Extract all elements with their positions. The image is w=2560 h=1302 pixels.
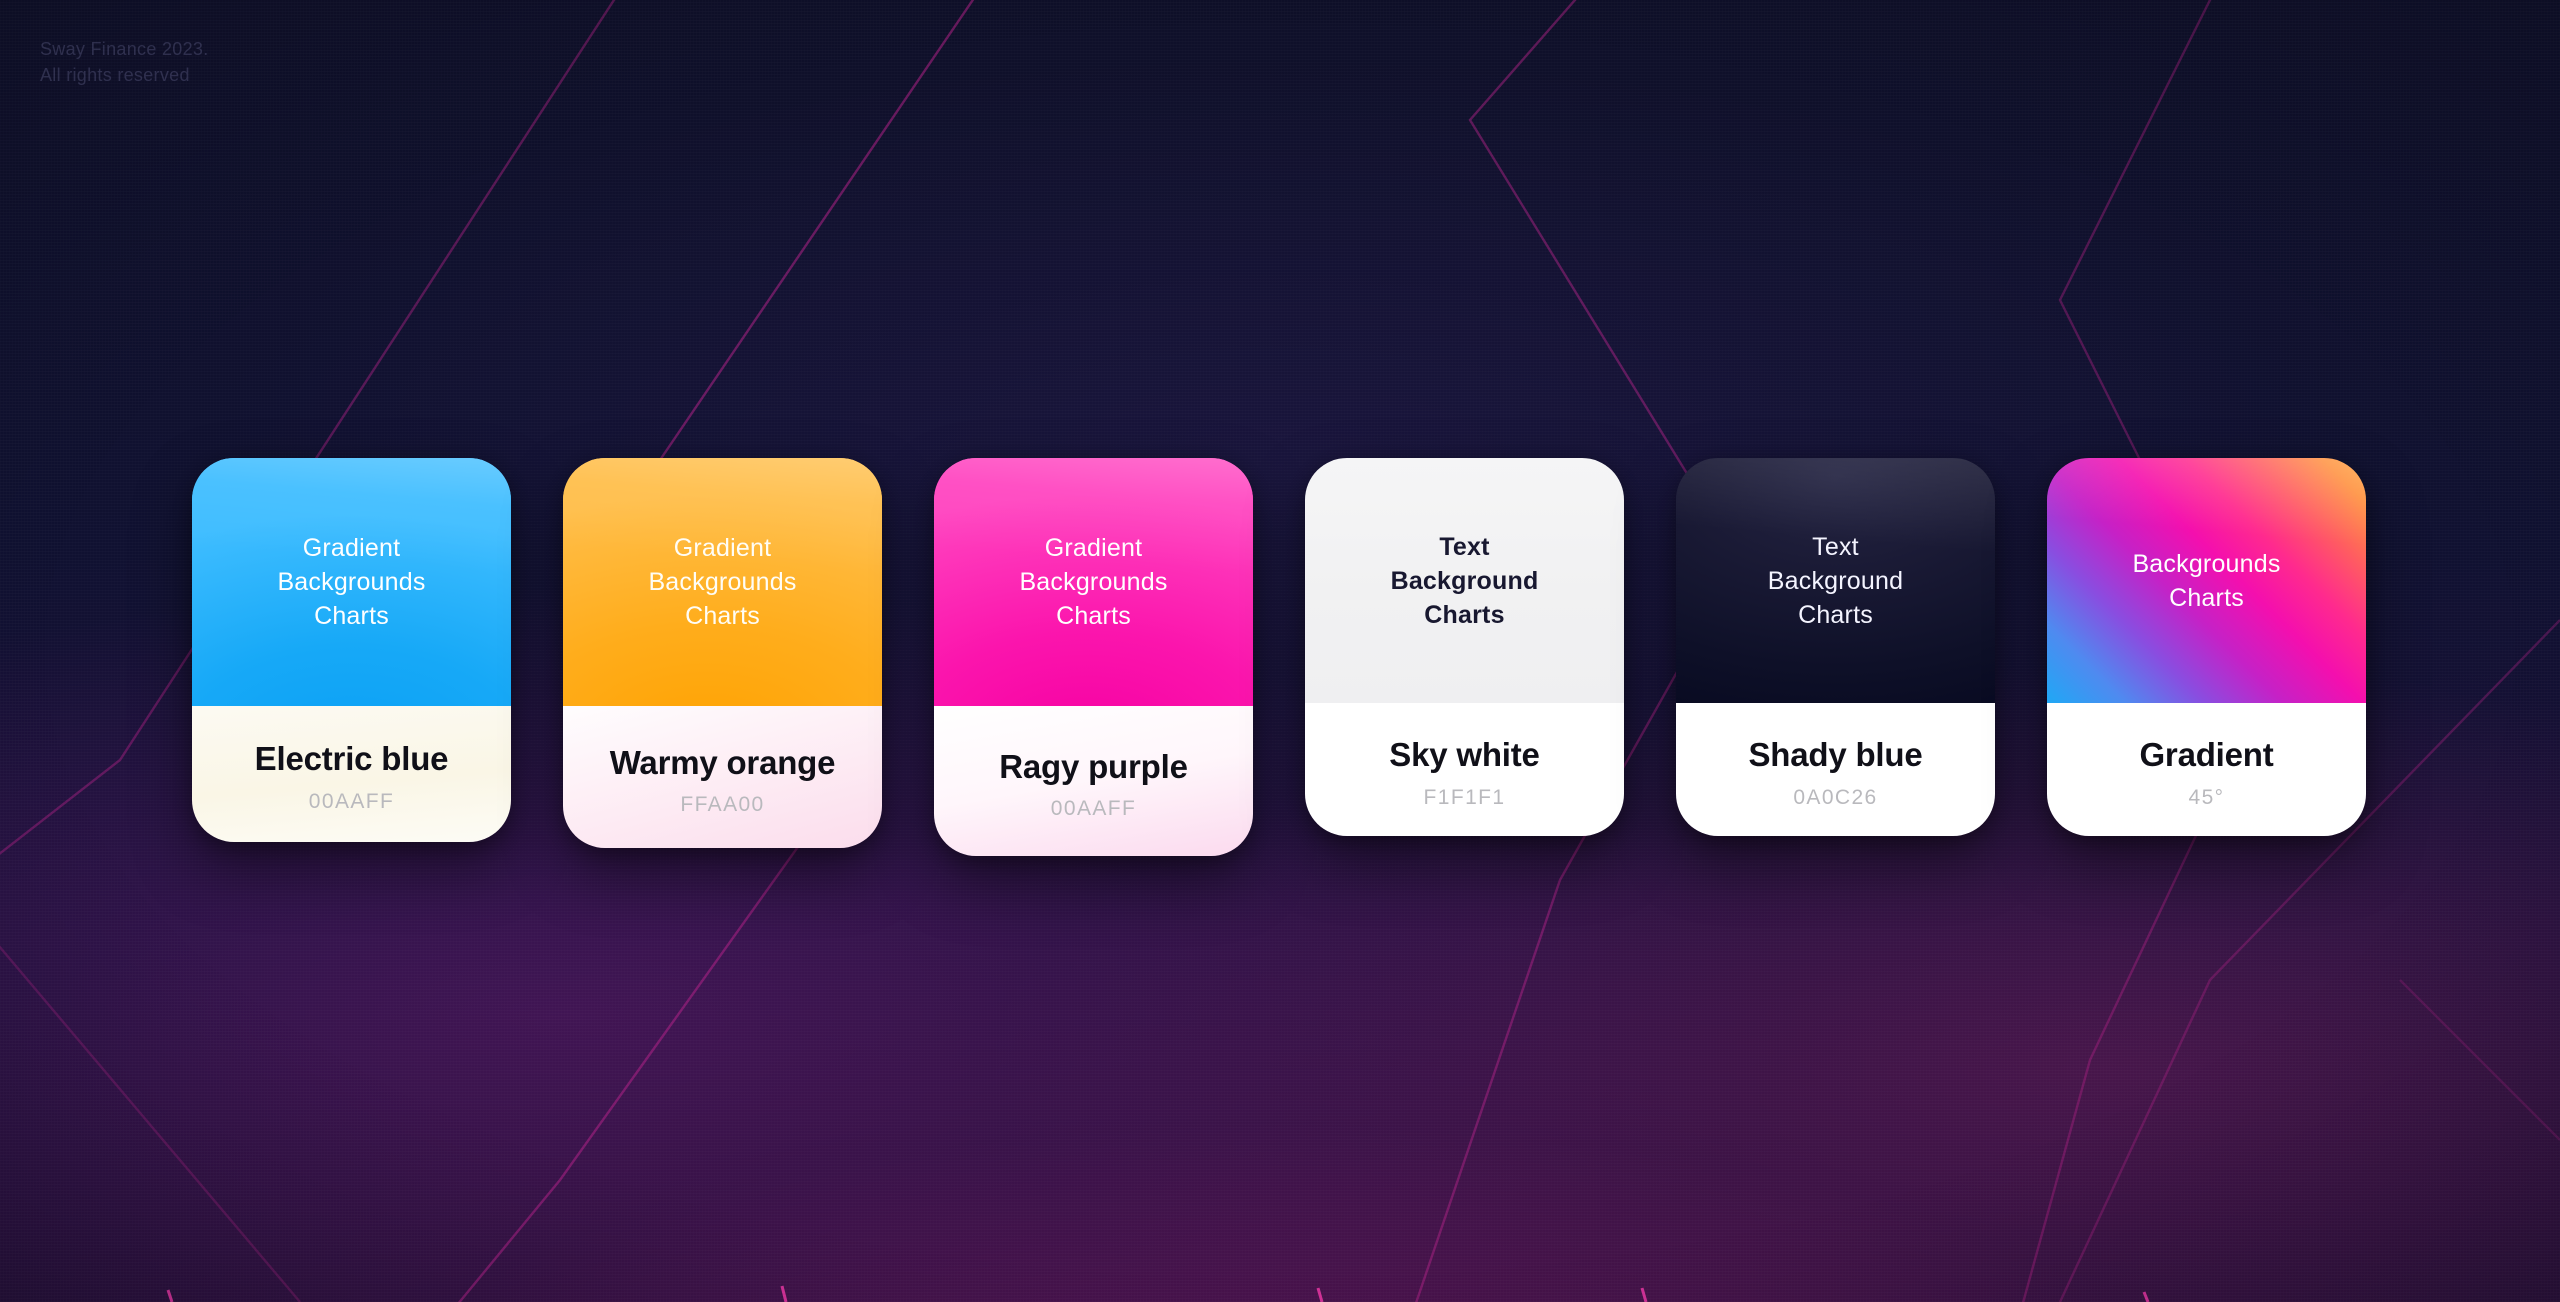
- color-hex-value: 00AAFF: [1051, 797, 1136, 821]
- color-hex-value: 0A0C26: [1793, 786, 1877, 810]
- color-card-gradient[interactable]: Backgrounds Charts Gradient 45°: [2047, 458, 2366, 836]
- swatch-caption: Gradient Backgrounds Charts: [1019, 531, 1167, 633]
- color-info-panel: Shady blue 0A0C26: [1676, 703, 1995, 836]
- color-hex-value: 00AAFF: [309, 790, 394, 814]
- swatch-caption: Gradient Backgrounds Charts: [648, 531, 796, 633]
- color-name: Electric blue: [255, 741, 449, 777]
- color-name: Sky white: [1389, 737, 1539, 773]
- color-swatch-gradient: Backgrounds Charts: [2047, 458, 2366, 703]
- color-name: Warmy orange: [610, 745, 836, 781]
- slide-canvas: Sway Finance 2023. All rights reserved G…: [0, 0, 2560, 1302]
- copyright-text: Sway Finance 2023. All rights reserved: [40, 36, 209, 88]
- color-swatch-electric-blue: Gradient Backgrounds Charts: [192, 458, 511, 706]
- color-card-electric-blue[interactable]: Gradient Backgrounds Charts Electric blu…: [192, 458, 511, 842]
- color-card-shady-blue[interactable]: Text Background Charts Shady blue 0A0C26: [1676, 458, 1995, 836]
- swatch-caption: Backgrounds Charts: [2132, 547, 2280, 615]
- color-hex-value: 45°: [2189, 786, 2225, 810]
- color-hex-value: FFAA00: [680, 793, 764, 817]
- color-name: Gradient: [2139, 737, 2273, 773]
- color-info-panel: Sky white F1F1F1: [1305, 703, 1624, 836]
- swatch-caption: Gradient Backgrounds Charts: [277, 531, 425, 633]
- color-info-panel: Electric blue 00AAFF: [192, 706, 511, 842]
- color-name: Shady blue: [1748, 737, 1922, 773]
- color-swatch-sky-white: Text Background Charts: [1305, 458, 1624, 703]
- color-swatch-ragy-purple: Gradient Backgrounds Charts: [934, 458, 1253, 706]
- swatch-caption: Text Background Charts: [1768, 530, 1903, 632]
- color-hex-value: F1F1F1: [1424, 786, 1506, 810]
- color-info-panel: Warmy orange FFAA00: [563, 706, 882, 848]
- color-card-sky-white[interactable]: Text Background Charts Sky white F1F1F1: [1305, 458, 1624, 836]
- color-card-row: Gradient Backgrounds Charts Electric blu…: [192, 458, 2366, 856]
- color-card-warmy-orange[interactable]: Gradient Backgrounds Charts Warmy orange…: [563, 458, 882, 848]
- swatch-caption: Text Background Charts: [1391, 530, 1539, 632]
- color-swatch-shady-blue: Text Background Charts: [1676, 458, 1995, 703]
- color-swatch-warmy-orange: Gradient Backgrounds Charts: [563, 458, 882, 706]
- color-info-panel: Ragy purple 00AAFF: [934, 706, 1253, 856]
- color-card-ragy-purple[interactable]: Gradient Backgrounds Charts Ragy purple …: [934, 458, 1253, 856]
- color-name: Ragy purple: [999, 749, 1188, 785]
- color-info-panel: Gradient 45°: [2047, 703, 2366, 836]
